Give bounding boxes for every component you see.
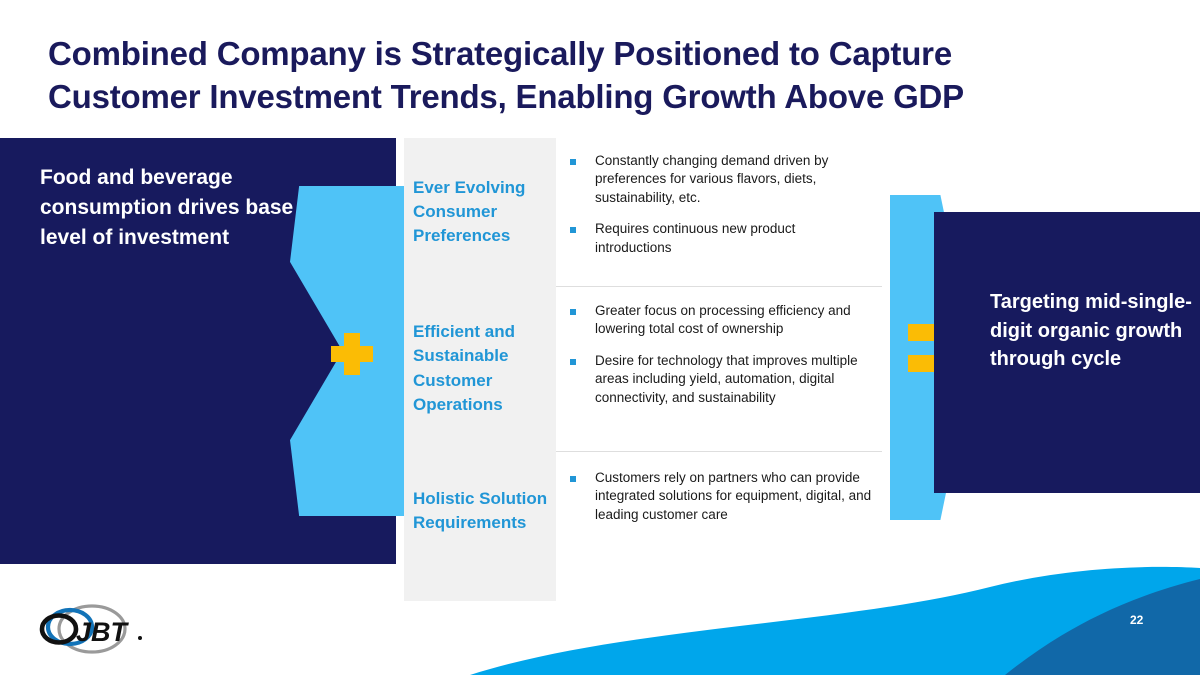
row-bullets-cell: Customers rely on partners who can provi… bbox=[556, 451, 882, 571]
bullet-text: Greater focus on processing efficiency a… bbox=[595, 302, 872, 339]
left-panel-text: Food and beverage consumption drives bas… bbox=[40, 163, 320, 254]
bullet-square-icon bbox=[570, 359, 576, 365]
middle-table: Ever Evolving Consumer Preferences Const… bbox=[404, 138, 882, 571]
list-item: Desire for technology that improves mult… bbox=[570, 352, 872, 407]
list-item: Constantly changing demand driven by pre… bbox=[570, 152, 872, 207]
plus-icon bbox=[331, 333, 373, 375]
bullet-square-icon bbox=[570, 159, 576, 165]
row-bullets-cell: Greater focus on processing efficiency a… bbox=[556, 286, 882, 451]
row-label: Holistic Solution Requirements bbox=[413, 487, 550, 535]
page-title: Combined Company is Strategically Positi… bbox=[48, 33, 1158, 119]
list-item: Customers rely on partners who can provi… bbox=[570, 469, 872, 524]
row-label-cell: Efficient and Sustainable Customer Opera… bbox=[404, 286, 556, 451]
right-panel-text: Targeting mid-single-digit organic growt… bbox=[990, 288, 1200, 374]
list-item: Greater focus on processing efficiency a… bbox=[570, 302, 872, 339]
table-row: Holistic Solution Requirements Customers… bbox=[404, 451, 882, 571]
footer-wave-decoration bbox=[0, 565, 1200, 675]
row-divider bbox=[556, 286, 882, 287]
logo-registered-mark bbox=[138, 636, 142, 640]
bullet-text: Constantly changing demand driven by pre… bbox=[595, 152, 872, 207]
list-item: Requires continuous new product introduc… bbox=[570, 220, 872, 257]
logo-wordmark: JBT bbox=[76, 617, 130, 647]
row-label: Efficient and Sustainable Customer Opera… bbox=[413, 320, 550, 417]
plus-icon-vertical-bar bbox=[344, 333, 360, 375]
bullet-text: Requires continuous new product introduc… bbox=[595, 220, 872, 257]
row-bullets-cell: Constantly changing demand driven by pre… bbox=[556, 138, 882, 286]
page-number: 22 bbox=[1130, 613, 1143, 627]
row-label: Ever Evolving Consumer Preferences bbox=[413, 176, 550, 248]
title-line-1: Combined Company is Strategically Positi… bbox=[48, 33, 1158, 76]
row-label-cell: Ever Evolving Consumer Preferences bbox=[404, 138, 556, 286]
table-row: Ever Evolving Consumer Preferences Const… bbox=[404, 138, 882, 286]
bullet-square-icon bbox=[570, 476, 576, 482]
bullet-text: Customers rely on partners who can provi… bbox=[595, 469, 872, 524]
bullet-square-icon bbox=[570, 227, 576, 233]
bullet-text: Desire for technology that improves mult… bbox=[595, 352, 872, 407]
table-row: Efficient and Sustainable Customer Opera… bbox=[404, 286, 882, 451]
title-line-2: Customer Investment Trends, Enabling Gro… bbox=[48, 76, 1158, 119]
row-divider bbox=[556, 451, 882, 452]
row-label-cell: Holistic Solution Requirements bbox=[404, 451, 556, 571]
bullet-square-icon bbox=[570, 309, 576, 315]
jbt-logo: JBT bbox=[30, 600, 152, 658]
slide: Combined Company is Strategically Positi… bbox=[0, 0, 1200, 675]
